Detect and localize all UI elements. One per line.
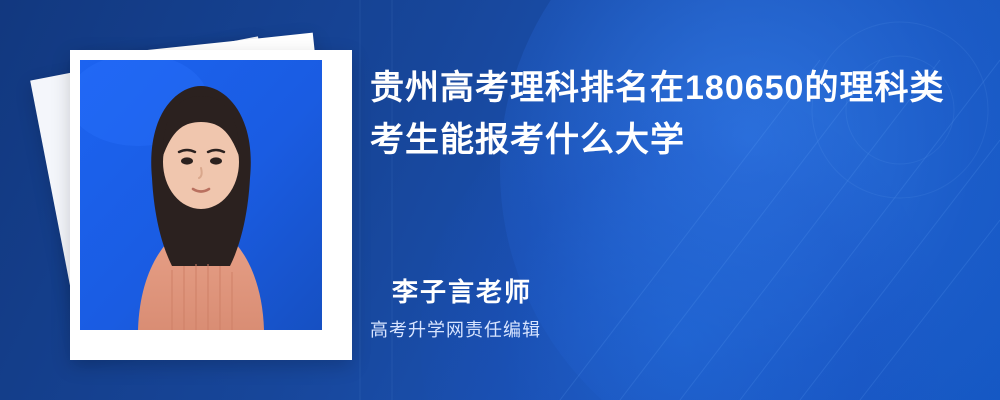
author-portrait xyxy=(80,60,322,330)
banner-text-block: 贵州高考理科排名在180650的理科类考生能报考什么大学 李子言老师 高考升学网… xyxy=(370,0,970,400)
page-title: 贵州高考理科排名在180650的理科类考生能报考什么大学 xyxy=(370,62,970,166)
author-name: 李子言老师 xyxy=(392,272,532,309)
photo-frame-stack xyxy=(48,28,348,368)
article-cover-banner: 贵州高考理科排名在180650的理科类考生能报考什么大学 李子言老师 高考升学网… xyxy=(0,0,1000,400)
photo-frame-front xyxy=(70,50,352,360)
author-role: 高考升学网责任编辑 xyxy=(370,316,541,342)
